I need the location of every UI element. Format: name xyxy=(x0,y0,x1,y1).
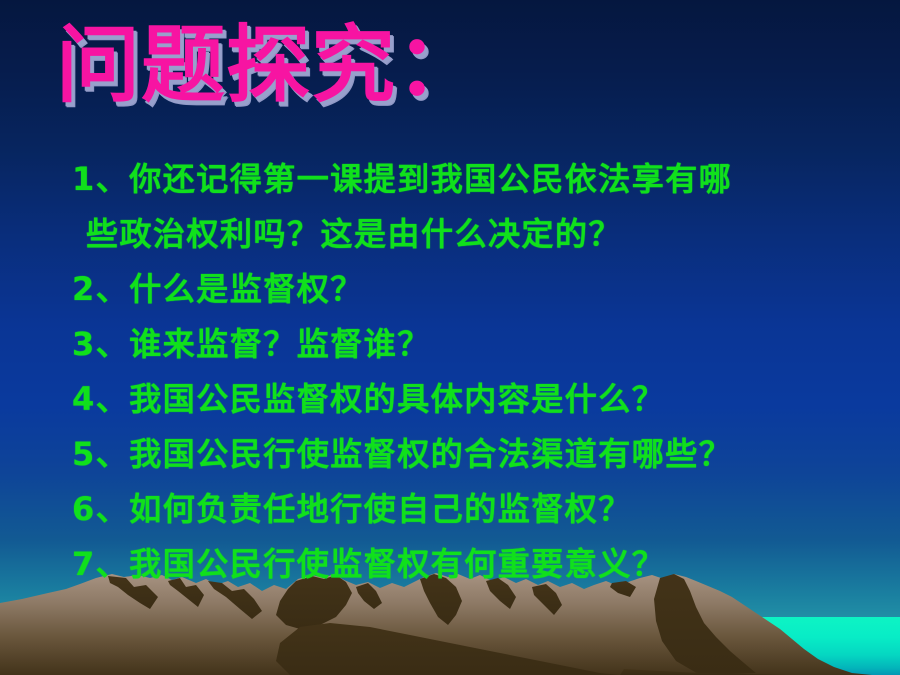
question-line-1-continued: 些政治权利吗？这是由什么决定的？ xyxy=(72,207,872,262)
question-line-2: 2、什么是监督权？ xyxy=(72,262,872,317)
question-line-5: 5、我国公民行使监督权的合法渠道有哪些？ xyxy=(72,427,872,482)
question-list: 1、你还记得第一课提到我国公民依法享有哪 些政治权利吗？这是由什么决定的？ 2、… xyxy=(72,152,872,592)
question-line-4: 4、我国公民监督权的具体内容是什么？ xyxy=(72,372,872,427)
question-line-3: 3、谁来监督？监督谁？ xyxy=(72,317,872,372)
question-line-6: 6、如何负责任地行使自己的监督权？ xyxy=(72,482,872,537)
question-line-1: 1、你还记得第一课提到我国公民依法享有哪 xyxy=(72,152,872,207)
page-title: 问题探究： xyxy=(56,18,481,112)
presentation-slide: 问题探究： 1、你还记得第一课提到我国公民依法享有哪 些政治权利吗？这是由什么决… xyxy=(0,0,900,675)
question-line-7: 7、我国公民行使监督权有何重要意义？ xyxy=(72,537,872,592)
